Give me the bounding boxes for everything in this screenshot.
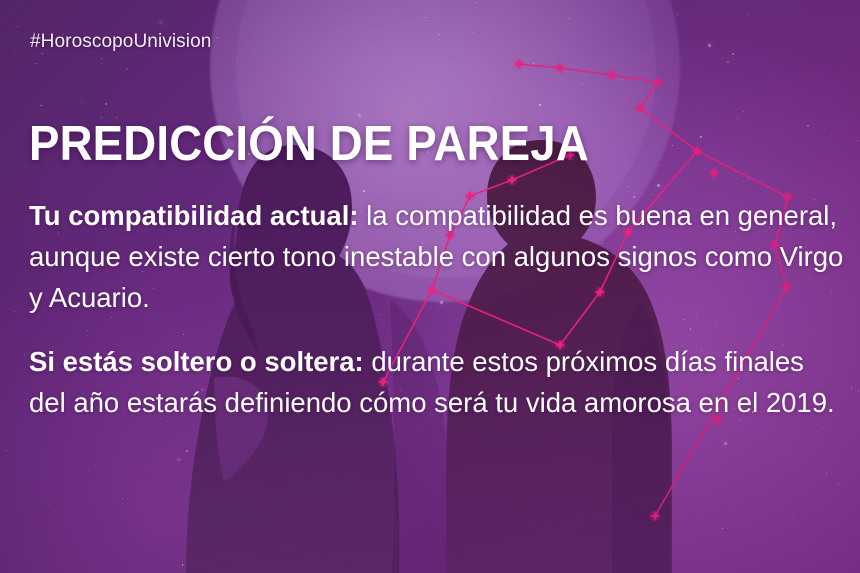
hashtag-label: #HoroscopoUnivision bbox=[30, 31, 211, 53]
page-title: PREDICCIÓN DE PAREJA bbox=[29, 120, 589, 169]
paragraph-single-lead: Si estás soltero o soltera: bbox=[29, 346, 364, 377]
paragraph-compatibility-lead: Tu compatibilidad actual: bbox=[29, 200, 359, 231]
content-layer: #HoroscopoUnivision PREDICCIÓN DE PAREJA… bbox=[0, 0, 860, 573]
body-text: Tu compatibilidad actual: la compatibili… bbox=[29, 195, 847, 423]
paragraph-compatibility: Tu compatibilidad actual: la compatibili… bbox=[29, 195, 847, 318]
horoscope-card: #HoroscopoUnivision PREDICCIÓN DE PAREJA… bbox=[0, 0, 860, 573]
paragraph-spacer bbox=[29, 318, 847, 341]
paragraph-single: Si estás soltero o soltera: durante esto… bbox=[29, 341, 847, 423]
